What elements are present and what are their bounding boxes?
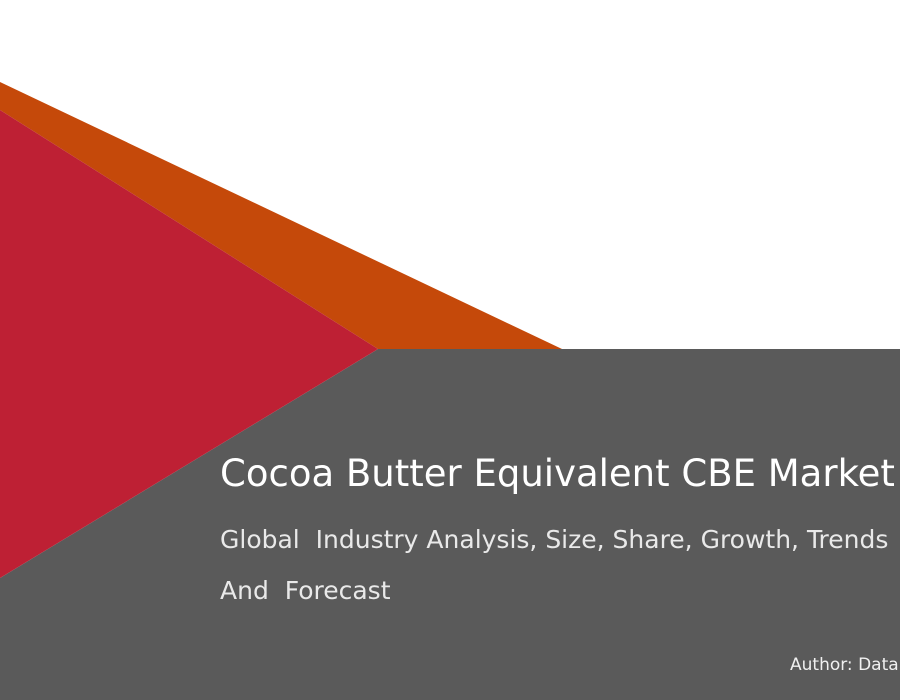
slide-text-layer: Cocoa Butter Equivalent CBE Market Globa…	[0, 0, 900, 700]
subtitle-line-2: And Forecast	[220, 574, 900, 608]
author-label: Author: Data	[790, 653, 900, 677]
title-slide: Cocoa Butter Equivalent CBE Market Globa…	[0, 0, 900, 700]
page-title: Cocoa Butter Equivalent CBE Market	[220, 448, 900, 500]
subtitle-line-1: Global Industry Analysis, Size, Share, G…	[220, 523, 900, 557]
